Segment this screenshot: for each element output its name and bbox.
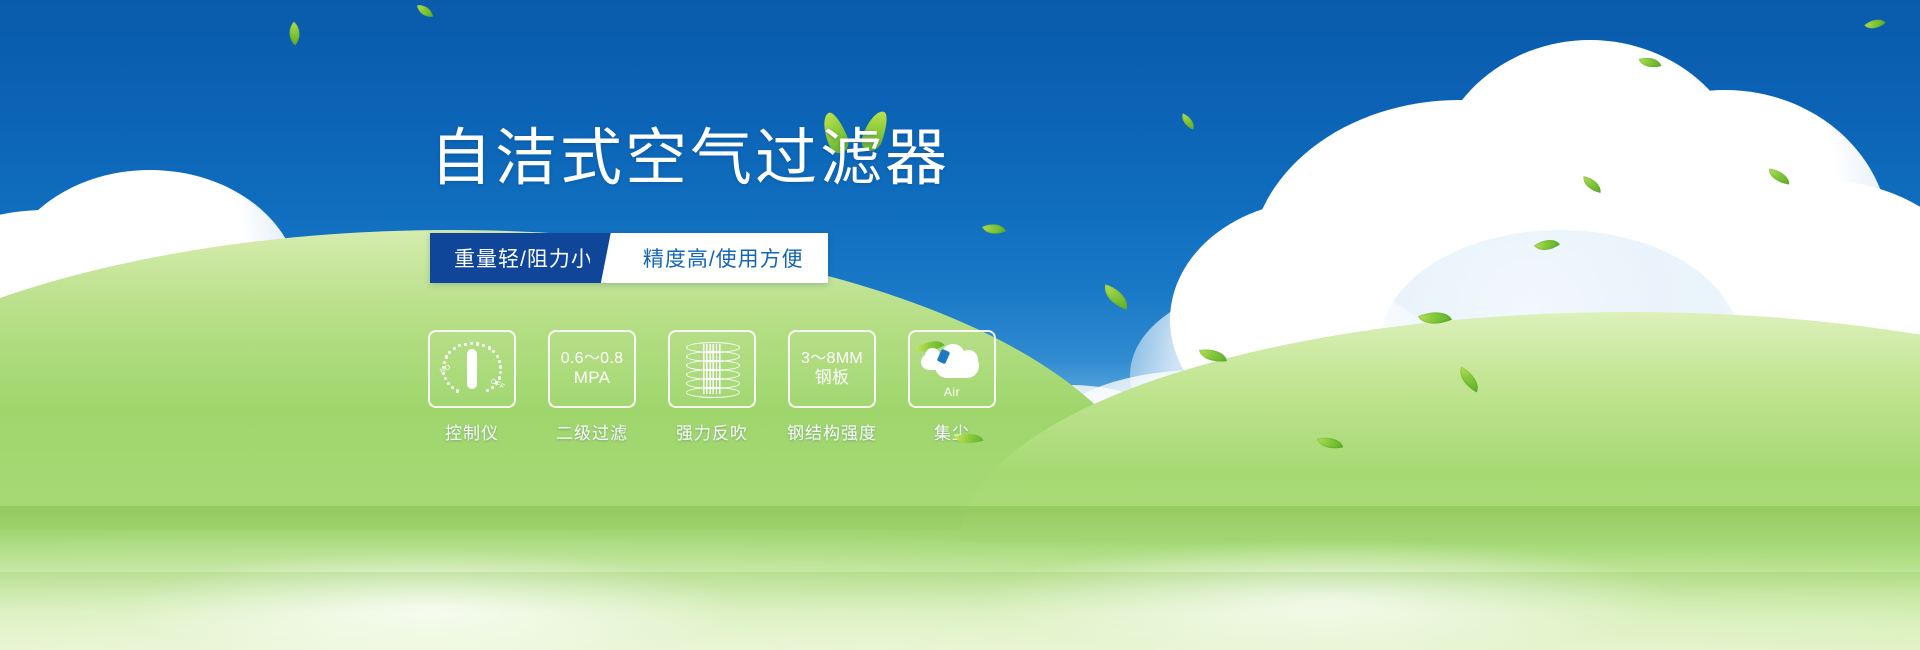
feature-caption: 控制仪 <box>445 419 499 444</box>
feature-box-line2: MPA <box>561 368 624 388</box>
subtitle-bar: 重量轻/阻力小 精度高/使用方便 <box>430 233 828 283</box>
product-hero-banner: 自洁式空气过滤器 重量轻/阻力小 精度高/使用方便 <box>0 0 1920 650</box>
air-label: Air <box>921 385 983 399</box>
feature-badge-steel-strength[interactable]: 3～8MM 钢板 钢结构强度 <box>790 330 874 444</box>
feature-icon-box: NO OFF <box>428 330 516 408</box>
feature-caption: 钢结构强度 <box>787 419 877 444</box>
pressure-text-icon: 0.6～0.8 MPA <box>561 349 624 389</box>
subtitle-left-label: 重量轻/阻力小 <box>430 233 615 283</box>
feature-badge-dust-collection[interactable]: Air 集尘 <box>910 330 994 444</box>
feature-box-line1: 3～8MM <box>801 350 863 367</box>
feature-icon-box: Air <box>908 330 996 408</box>
air-cloud-icon: Air <box>921 342 983 396</box>
gauge-needle <box>467 349 477 389</box>
subtitle-right-label: 精度高/使用方便 <box>615 233 828 283</box>
steel-plate-text-icon: 3～8MM 钢板 <box>801 349 863 389</box>
feature-badge-two-stage-filter[interactable]: 0.6～0.8 MPA 二级过滤 <box>550 330 634 444</box>
page-title: 自洁式空气过滤器 <box>430 128 950 190</box>
gauge-label-no: NO <box>439 364 452 375</box>
feature-badge-controller[interactable]: NO OFF 控制仪 <box>430 330 514 444</box>
feature-caption: 强力反吹 <box>676 419 748 444</box>
feature-box-line1: 0.6～0.8 <box>561 350 624 367</box>
feature-icon-box <box>668 330 756 408</box>
gauge-dial-icon: NO OFF <box>441 340 503 398</box>
feature-box-line2: 钢板 <box>801 368 863 388</box>
banner-content: 自洁式空气过滤器 重量轻/阻力小 精度高/使用方便 <box>0 0 1920 650</box>
feature-icon-box: 3～8MM 钢板 <box>788 330 876 408</box>
feature-badge-back-blow[interactable]: 强力反吹 <box>670 330 754 444</box>
filter-stack-icon <box>684 340 740 398</box>
feature-caption: 二级过滤 <box>556 419 628 444</box>
feature-icon-box: 0.6～0.8 MPA <box>548 330 636 408</box>
feature-badge-list: NO OFF 控制仪 0.6～0.8 MPA 二级过滤 <box>430 330 994 444</box>
gauge-label-off: OFF <box>489 378 505 391</box>
